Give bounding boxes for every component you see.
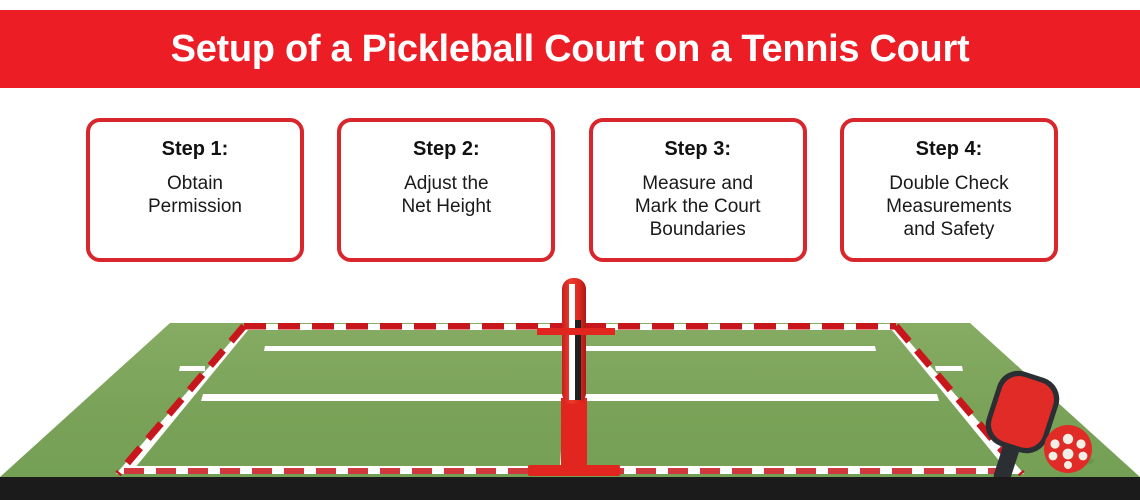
- step-1-description: Obtain Permission: [142, 172, 248, 218]
- step-3-description: Measure and Mark the Court Boundaries: [629, 172, 767, 242]
- court-illustration: [0, 262, 1140, 500]
- step-2-description: Adjust the Net Height: [395, 172, 497, 218]
- court-illustration-svg: [0, 262, 1140, 500]
- step-box-4[interactable]: Step 4: Double Check Measurements and Sa…: [840, 118, 1058, 262]
- infographic-page: Setup of a Pickleball Court on a Tennis …: [0, 0, 1140, 500]
- net-post-core-light: [569, 284, 575, 400]
- page-title: Setup of a Pickleball Court on a Tennis …: [171, 30, 970, 68]
- step-4-heading: Step 4:: [916, 138, 983, 160]
- ball-hole-1: [1063, 434, 1073, 444]
- header-banner: Setup of a Pickleball Court on a Tennis …: [0, 10, 1140, 88]
- tennis-singles-mark-right: [935, 366, 963, 371]
- step-1-heading: Step 1:: [162, 138, 229, 160]
- step-box-3[interactable]: Step 3: Measure and Mark the Court Bound…: [589, 118, 807, 262]
- ball-hole-5: [1049, 452, 1058, 461]
- net-post-base-stem: [561, 398, 587, 468]
- net-post-crossbar: [537, 328, 615, 335]
- ball-hole-7: [1064, 461, 1072, 469]
- ball-hole-3: [1076, 439, 1085, 448]
- ball-hole-2: [1050, 439, 1059, 448]
- ball-hole-4: [1063, 449, 1074, 460]
- ball-hole-6: [1079, 452, 1088, 461]
- step-2-heading: Step 2:: [413, 138, 480, 160]
- step-3-heading: Step 3:: [664, 138, 731, 160]
- tennis-singles-mark-left: [179, 366, 205, 371]
- bottom-bar: [0, 477, 1140, 500]
- step-4-description: Double Check Measurements and Safety: [880, 172, 1018, 242]
- step-box-1[interactable]: Step 1: Obtain Permission: [86, 118, 304, 262]
- steps-row: Step 1: Obtain Permission Step 2: Adjust…: [86, 118, 1058, 262]
- step-box-2[interactable]: Step 2: Adjust the Net Height: [337, 118, 555, 262]
